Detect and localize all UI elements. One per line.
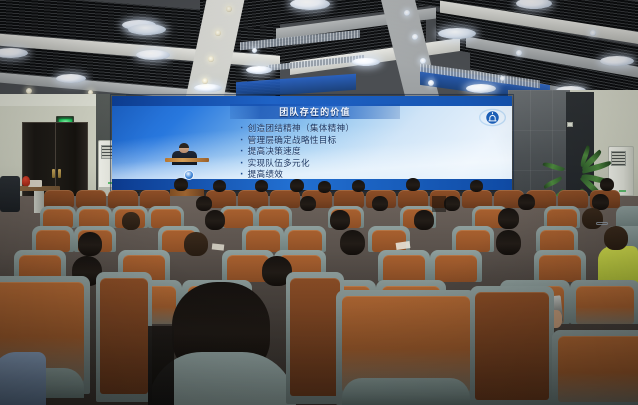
table-items (28, 180, 42, 187)
auditorium-seat-back[interactable] (558, 336, 638, 402)
audience-member-head (372, 196, 388, 211)
dome-ceiling-light (194, 84, 222, 92)
paper-on-desk (212, 243, 225, 250)
audience-member-head (498, 208, 519, 229)
recessed-downlight (500, 76, 505, 81)
audience-member-head (122, 212, 140, 230)
audience-member-head (444, 196, 460, 211)
auditorium-seat (540, 230, 574, 252)
auditorium-seat-back[interactable] (475, 292, 549, 400)
audience-member-head (330, 210, 350, 230)
audience-member-head (340, 230, 365, 255)
door-handle[interactable] (52, 169, 55, 178)
ac-indicator-light (619, 190, 626, 192)
recessed-downlight (590, 30, 596, 36)
dome-ceiling-light (600, 56, 634, 66)
audience-member-head (414, 210, 434, 230)
auditorium-seat (288, 230, 322, 252)
eyeglasses-icon (596, 222, 608, 225)
dome-ceiling-light (136, 50, 170, 60)
recessed-downlight (208, 56, 214, 62)
recessed-downlight (412, 34, 418, 40)
audience-member-head (213, 180, 226, 192)
auditorium-seat (36, 230, 70, 252)
dome-ceiling-light (466, 84, 496, 93)
audience-member-head (205, 210, 225, 230)
auditorium-seat-back[interactable] (290, 278, 340, 396)
conference-hall-photo: 团队存在的价值 · 创造团结精神（集体精神） · 管理层确定战略性目标 · 提高… (0, 0, 638, 405)
flower-vase-red-flowers (22, 176, 30, 186)
audience-member-head (600, 178, 614, 191)
podium-top-surface (165, 158, 209, 162)
chair-dark (0, 176, 20, 212)
recessed-downlight (252, 48, 257, 53)
dome-ceiling-light (438, 28, 476, 39)
audience-member-head (604, 226, 628, 250)
audience-member-head (352, 180, 365, 192)
recessed-downlight (428, 80, 434, 86)
audience-member-head (582, 208, 603, 229)
audience-member-head (290, 179, 304, 192)
door-handle[interactable] (58, 169, 61, 178)
dome-ceiling-light (128, 24, 166, 35)
audience-member-head (196, 196, 212, 211)
audience-member-head (318, 181, 331, 193)
audience-member-head (78, 232, 102, 256)
recessed-downlight (420, 58, 426, 64)
audience-member-head (470, 180, 483, 192)
auditorium-seat (246, 230, 280, 252)
audience-member-head (174, 178, 188, 191)
audience-member-head (300, 196, 316, 211)
audience-member-head (255, 180, 268, 192)
ac-vent-grille (611, 151, 626, 166)
auditorium-seat-armrest[interactable] (342, 378, 470, 405)
recessed-downlight (516, 50, 522, 56)
auditorium-seat-rim (616, 206, 638, 228)
presenter-head (179, 143, 189, 153)
aisle-gap (432, 196, 446, 212)
audience-member-head (184, 232, 208, 256)
auditorium-seat (539, 255, 581, 282)
audience-member-blue-shirt (0, 352, 46, 405)
recessed-downlight (215, 30, 221, 36)
auditorium-seat-back[interactable] (100, 278, 148, 394)
audience-member-head (496, 230, 521, 255)
recessed-downlight (202, 78, 208, 84)
dome-ceiling-light (56, 74, 86, 83)
wall-mounted-box (567, 122, 573, 127)
audience-member-head (518, 194, 535, 210)
ceiling (0, 0, 638, 96)
auditorium-seat (576, 286, 634, 324)
recessed-downlight (404, 10, 410, 16)
auditorium-seat (435, 255, 477, 282)
aisle-gap (148, 326, 174, 405)
dome-ceiling-light (246, 66, 272, 74)
podium-base (170, 189, 204, 196)
auditorium-seat (456, 230, 490, 252)
auditorium-seat (383, 255, 425, 282)
audience-member-head (406, 178, 420, 191)
recessed-downlight (226, 6, 232, 12)
dome-ceiling-light (352, 58, 380, 66)
